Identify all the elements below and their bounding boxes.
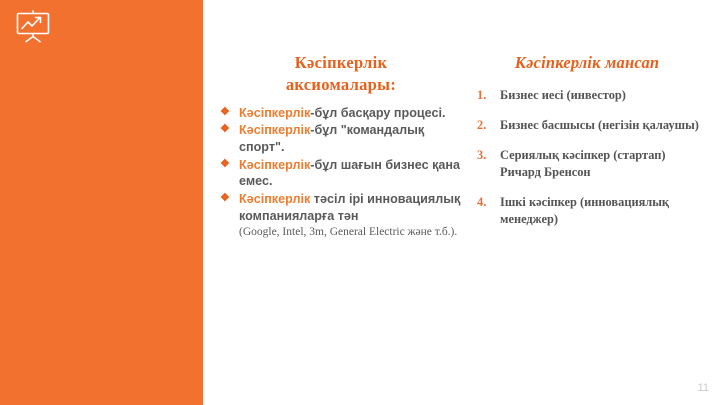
list-item-text: Бизнес иесі (инвестор) bbox=[500, 88, 626, 102]
left-column-title: Кәсіпкерлік аксиомалары: bbox=[217, 52, 465, 96]
list-item-text: -бұл басқару процесі. bbox=[310, 106, 445, 120]
list-item: 3. Сериялық кәсіпкер (стартап) Ричард Бр… bbox=[471, 147, 703, 181]
axioms-list: ❖ Кәсіпкерлік-бұл басқару процесі. ❖ Кәс… bbox=[217, 105, 465, 240]
list-item-highlight: Кәсіпкерлік bbox=[239, 158, 310, 172]
diamond-bullet-icon: ❖ bbox=[220, 157, 230, 173]
list-item-highlight: Кәсіпкерлік bbox=[239, 192, 310, 206]
list-item-text: Ішкі кәсіпкер (инновациялық менеджер) bbox=[500, 195, 669, 226]
page-number: 11 bbox=[698, 382, 709, 394]
list-item-note: (Google, Intel, 3m, General Electric жән… bbox=[239, 225, 465, 240]
list-item-highlight: Кәсіпкерлік bbox=[239, 106, 310, 120]
diamond-bullet-icon: ❖ bbox=[220, 105, 230, 121]
list-item-text: Сериялық кәсіпкер (стартап) Ричард Бренс… bbox=[500, 148, 666, 179]
sidebar-panel bbox=[0, 0, 203, 405]
list-item-text: Бизнес басшысы (негізін қалаушы) bbox=[500, 118, 699, 132]
left-title-line-1: Кәсіпкерлік bbox=[295, 53, 388, 72]
list-item-highlight: Кәсіпкерлік bbox=[239, 123, 310, 137]
list-item-number: 2. bbox=[477, 117, 486, 134]
list-item: ❖ Кәсіпкерлік-бұл басқару процесі. bbox=[217, 105, 465, 122]
list-item-number: 4. bbox=[477, 194, 486, 211]
list-item-number: 3. bbox=[477, 147, 486, 164]
diamond-bullet-icon: ❖ bbox=[220, 122, 230, 138]
list-item: 1. Бизнес иесі (инвестор) bbox=[471, 87, 703, 104]
list-item: ❖ Кәсіпкерлік-бұл шағын бизнес қана емес… bbox=[217, 157, 465, 190]
right-column-title: Кәсіпкерлік мансап bbox=[471, 52, 703, 73]
slide-content: Кәсіпкерлік аксиомалары: ❖ Кәсіпкерлік-б… bbox=[203, 0, 720, 405]
right-column: Кәсіпкерлік мансап 1. Бизнес иесі (инвес… bbox=[471, 52, 703, 241]
left-column: Кәсіпкерлік аксиомалары: ❖ Кәсіпкерлік-б… bbox=[217, 52, 465, 241]
list-item: 4. Ішкі кәсіпкер (инновациялық менеджер) bbox=[471, 194, 703, 228]
presentation-chart-icon bbox=[13, 9, 53, 43]
list-item-number: 1. bbox=[477, 87, 486, 104]
list-item: ❖ Кәсіпкерлік тәсіл ірі инновациялық ком… bbox=[217, 191, 465, 239]
left-title-line-2: аксиомалары: bbox=[286, 75, 396, 94]
diamond-bullet-icon: ❖ bbox=[220, 191, 230, 207]
career-list: 1. Бизнес иесі (инвестор) 2. Бизнес басш… bbox=[471, 87, 703, 227]
list-item: ❖ Кәсіпкерлік-бұл "командалық спорт". bbox=[217, 122, 465, 155]
slide-canvas: Кәсіпкерлік аксиомалары: ❖ Кәсіпкерлік-б… bbox=[0, 0, 720, 405]
list-item: 2. Бизнес басшысы (негізін қалаушы) bbox=[471, 117, 703, 134]
